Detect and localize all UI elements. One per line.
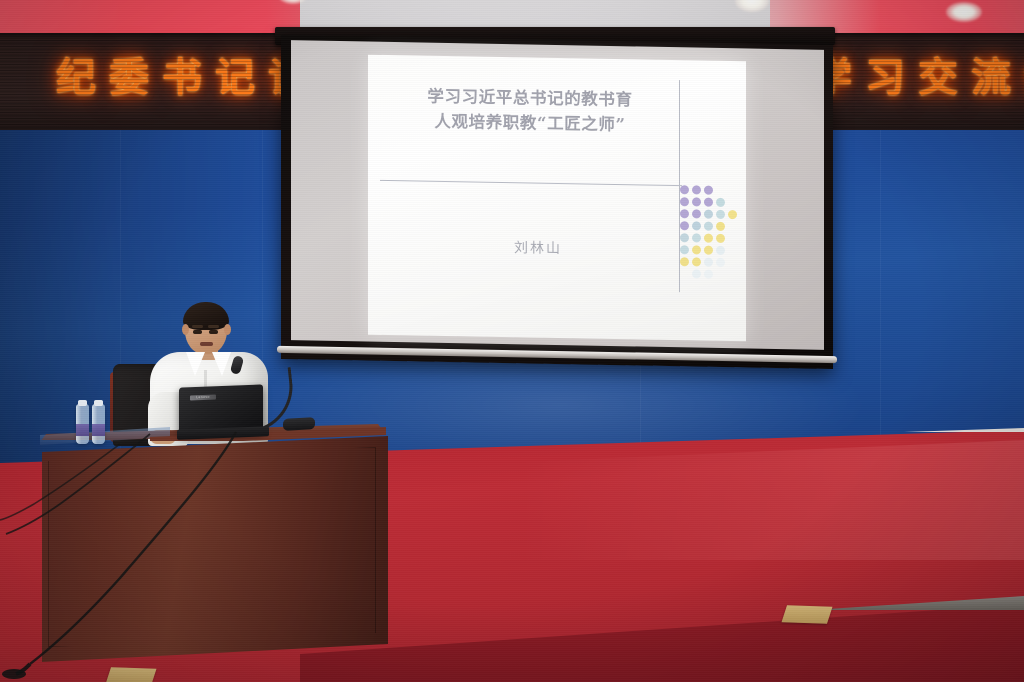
floor-outlet-plate	[781, 605, 832, 624]
slide-dot	[704, 234, 713, 243]
slide-title: 学习习近平总书记的教书育 人观培养职教“工匠之师”	[382, 83, 678, 138]
slide-dot	[728, 258, 737, 267]
slide-dot	[728, 198, 737, 207]
speaker-mouth	[200, 342, 213, 346]
slide-dot	[680, 233, 689, 242]
slide-horizontal-rule	[380, 180, 682, 186]
floor-cables	[0, 400, 420, 682]
slide-dot	[728, 186, 737, 195]
slide-dot	[692, 233, 701, 242]
slide-dot	[680, 209, 689, 218]
slide-dot	[728, 270, 737, 279]
slide-dot-grid-decoration	[680, 185, 739, 281]
slide-dot	[680, 221, 689, 230]
slide-dot	[716, 186, 725, 195]
slide-dot	[704, 186, 713, 195]
slide-dot	[716, 258, 725, 267]
slide-dot	[728, 210, 737, 219]
slide-dot	[680, 269, 689, 278]
slide-dot	[716, 222, 725, 231]
slide-dot	[692, 221, 701, 230]
slide-dot	[692, 245, 701, 254]
speaker-eye-left	[193, 330, 202, 334]
slide-dot	[692, 257, 701, 266]
slide-dot	[680, 245, 689, 254]
slide-dot	[704, 246, 713, 255]
slide-dot	[704, 270, 713, 279]
lecture-hall-photo: 纪委书记谈 学习交流会 学习习近平总书记的教书育 人观培养职教“工匠之师” 刘林…	[0, 0, 1024, 682]
ceiling-light-2	[946, 2, 982, 22]
slide-dot	[692, 269, 701, 278]
slide-dot	[716, 198, 725, 207]
slide-dot	[704, 198, 713, 207]
slide-author-name: 刘林山	[458, 236, 618, 259]
slide-dot	[680, 257, 689, 266]
speaker-ear-right	[224, 324, 231, 335]
slide-dot	[728, 234, 737, 243]
speaker-ear-left	[182, 324, 189, 335]
slide-dot	[716, 270, 725, 279]
slide-dot	[692, 185, 701, 194]
slide-dot	[692, 197, 701, 206]
slide-dot	[728, 222, 737, 231]
slide-dot	[716, 246, 725, 255]
slide-dot	[692, 209, 701, 218]
speaker-brow-left	[192, 325, 203, 328]
slide-dot	[716, 210, 725, 219]
projected-slide: 学习习近平总书记的教书育 人观培养职教“工匠之师” 刘林山	[368, 55, 746, 342]
slide-dot	[716, 234, 725, 243]
slide-dot	[728, 246, 737, 255]
slide-dot	[704, 258, 713, 267]
slide-dot	[704, 222, 713, 231]
slide-dot	[704, 210, 713, 219]
speaker-eye-right	[209, 330, 218, 334]
wall-panel-seam	[880, 130, 881, 470]
speaker-brow-right	[208, 325, 219, 328]
slide-dot	[680, 185, 689, 194]
led-banner-text-right: 学习交流会	[812, 52, 1024, 104]
slide-title-line-2: 人观培养职教“工匠之师”	[382, 108, 678, 138]
slide-dot	[680, 197, 689, 206]
